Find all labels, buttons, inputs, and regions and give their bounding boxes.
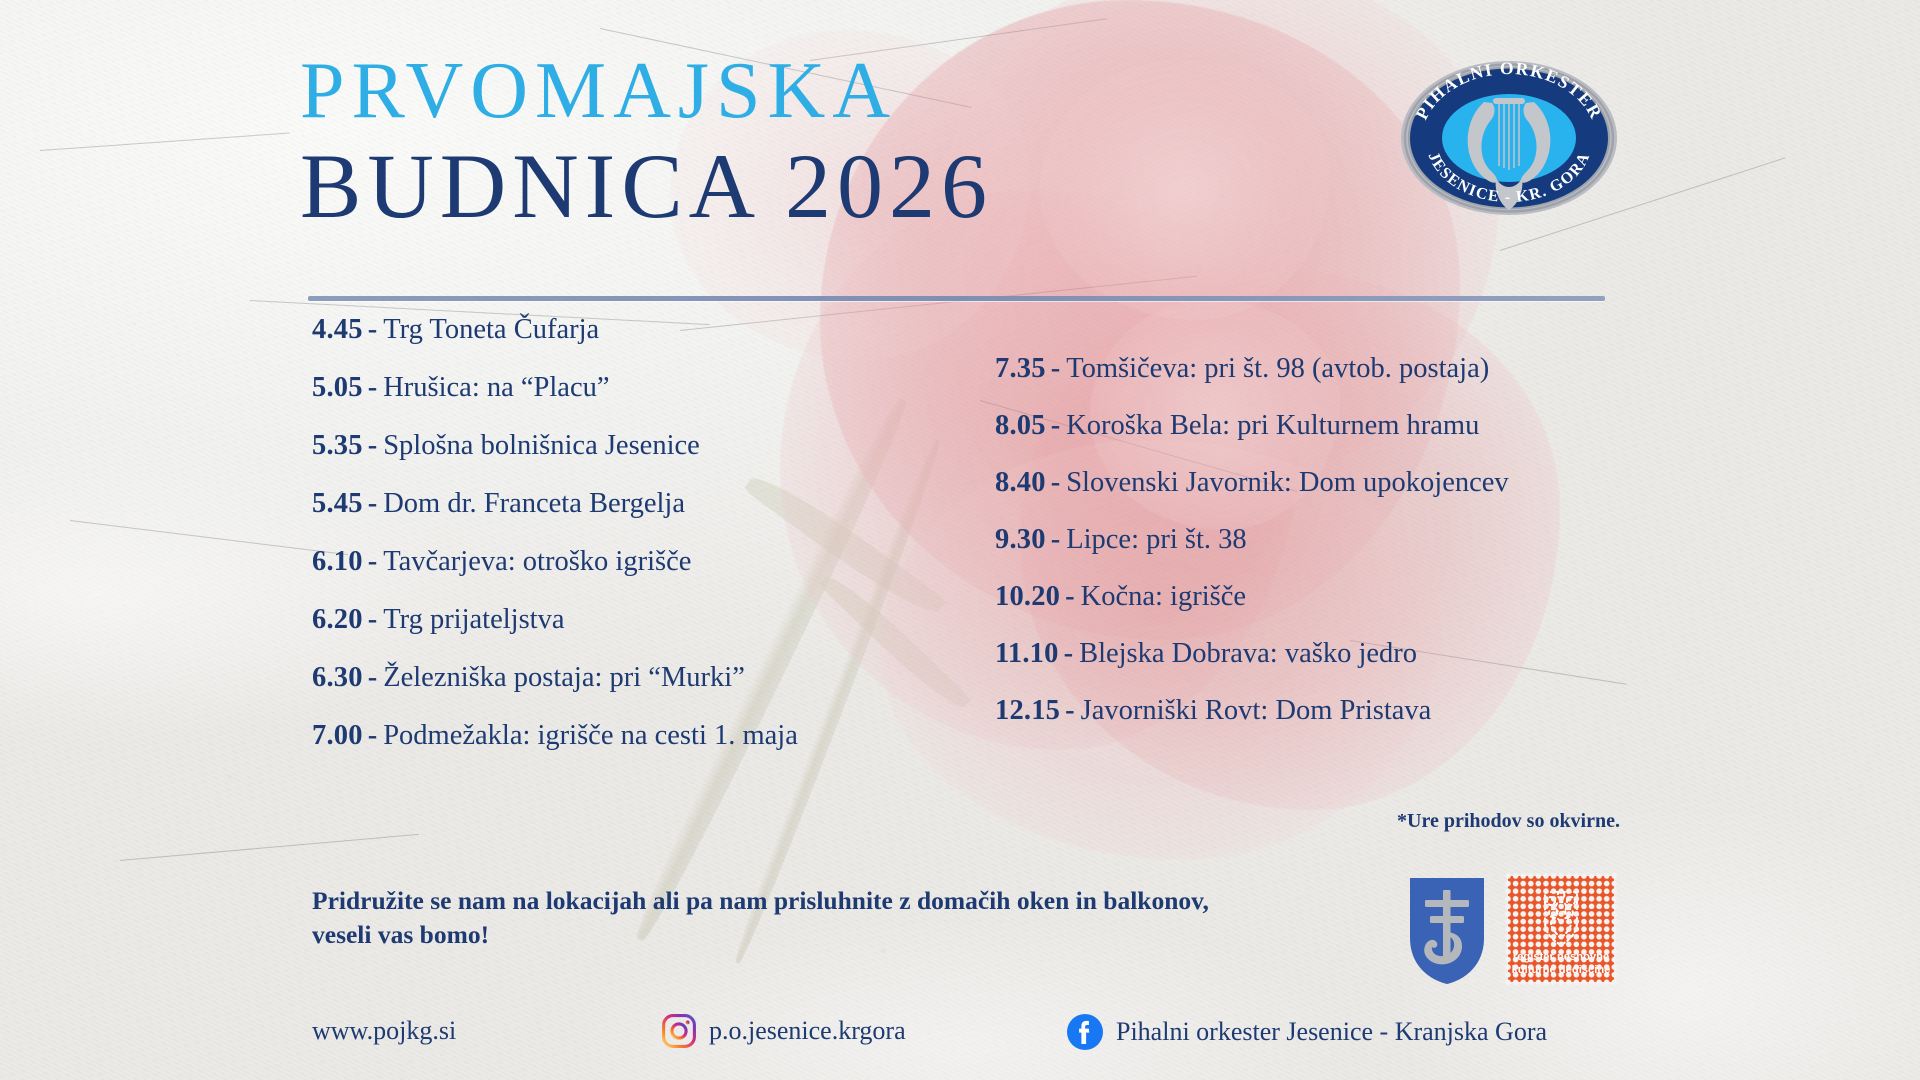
schedule-column-left: 4.45 - Trg Toneta Čufarja 5.05 - Hrušica… — [312, 316, 972, 780]
schedule-place: Trg prijateljstva — [383, 606, 564, 635]
schedule-dash: - — [1060, 697, 1081, 726]
schedule-dash: - — [1060, 583, 1081, 612]
jesenice-coat-of-arms-icon — [1408, 876, 1486, 986]
poster-headline: PRVOMAJSKA BUDNICA 2026 — [300, 52, 993, 235]
facebook-link[interactable]: Pihalni orkester Jesenice - Kranjska Gor… — [1067, 1014, 1547, 1050]
title-line-budnica-2026: BUDNICA 2026 — [300, 138, 993, 235]
schedule-time: 6.30 — [312, 664, 363, 693]
header-divider — [308, 296, 1605, 301]
heritage-stamp-line-1: register nesnovne — [1513, 951, 1609, 963]
schedule-row: 7.00 - Podmežakla: igrišče na cesti 1. m… — [312, 722, 972, 780]
schedule-time: 12.15 — [995, 697, 1060, 726]
facebook-page-name: Pihalni orkester Jesenice - Kranjska Gor… — [1116, 1017, 1547, 1047]
instagram-link[interactable]: p.o.jesenice.krgora — [662, 1014, 906, 1048]
cta-line-2: veseli vas bomo! — [312, 918, 1342, 952]
orchestra-badge-logo: PIHALNI ORKESTER JESENICE - KR. GORA — [1398, 58, 1620, 218]
call-to-action-text: Pridružite se nam na lokacijah ali pa na… — [312, 884, 1342, 952]
schedule-time: 6.20 — [312, 606, 363, 635]
poster-footer: www.pojkg.si — [312, 1014, 1612, 1060]
schedule-row: 12.15 - Javorniški Rovt: Dom Pristava — [995, 697, 1635, 754]
schedule-dash: - — [1046, 355, 1067, 384]
schedule-row: 5.45 - Dom dr. Franceta Bergelja — [312, 490, 972, 548]
schedule-dash: - — [1046, 526, 1067, 555]
schedule-row: 6.20 - Trg prijateljstva — [312, 606, 972, 664]
schedule-dash: - — [1059, 640, 1080, 669]
title-line-prvomajska: PRVOMAJSKA — [300, 52, 993, 130]
schedule-time: 11.10 — [995, 640, 1059, 669]
schedule-time: 7.00 — [312, 722, 363, 751]
schedule-row: 4.45 - Trg Toneta Čufarja — [312, 316, 972, 374]
schedule-row: 8.40 - Slovenski Javornik: Dom upokojenc… — [995, 469, 1635, 526]
schedule-dash: - — [363, 316, 384, 345]
schedule-row: 11.10 - Blejska Dobrava: vaško jedro — [995, 640, 1635, 697]
schedule-place: Podmežakla: igrišče na cesti 1. maja — [383, 722, 798, 751]
schedule-row: 7.35 - Tomšičeva: pri št. 98 (avtob. pos… — [995, 355, 1635, 412]
schedule-dash: - — [363, 432, 384, 461]
schedule-row: 10.20 - Kočna: igrišče — [995, 583, 1635, 640]
schedule-place: Splošna bolnišnica Jesenice — [383, 432, 700, 461]
schedule-time: 9.30 — [995, 526, 1046, 555]
facebook-icon — [1067, 1014, 1103, 1050]
schedule-dash: - — [363, 664, 384, 693]
schedule-row: 5.35 - Splošna bolnišnica Jesenice — [312, 432, 972, 490]
schedule-time: 10.20 — [995, 583, 1060, 612]
schedule-place: Koroška Bela: pri Kulturnem hramu — [1066, 412, 1479, 441]
schedule-dash: - — [1046, 469, 1067, 498]
schedule-place: Železniška postaja: pri “Murki” — [383, 664, 745, 693]
instagram-handle: p.o.jesenice.krgora — [709, 1016, 906, 1046]
schedule-column-right: 7.35 - Tomšičeva: pri št. 98 (avtob. pos… — [995, 355, 1635, 754]
heritage-stamp-line-2: kulturne dediščine — [1512, 964, 1611, 976]
approximate-times-note: *Ure prihodov so okvirne. — [1050, 810, 1620, 833]
schedule-place: Tavčarjeva: otroško igrišče — [383, 548, 691, 577]
schedule-dash: - — [363, 722, 384, 751]
schedule-place: Javorniški Rovt: Dom Pristava — [1081, 697, 1432, 726]
website-label: www.pojkg.si — [312, 1016, 456, 1046]
schedule-place: Tomšičeva: pri št. 98 (avtob. postaja) — [1066, 355, 1489, 384]
schedule-place: Kočna: igrišče — [1081, 583, 1246, 612]
schedule-time: 8.05 — [995, 412, 1046, 441]
schedule-row: 5.05 - Hrušica: na “Placu” — [312, 374, 972, 432]
schedule-time: 8.40 — [995, 469, 1046, 498]
schedule-row: 8.05 - Koroška Bela: pri Kulturnem hramu — [995, 412, 1635, 469]
schedule-time: 4.45 — [312, 316, 363, 345]
poster: PRVOMAJSKA BUDNICA 2026 — [0, 0, 1920, 1080]
cta-line-1: Pridružite se nam na lokacijah ali pa na… — [312, 884, 1342, 918]
website-link[interactable]: www.pojkg.si — [312, 1016, 456, 1046]
schedule-time: 6.10 — [312, 548, 363, 577]
schedule-dash: - — [363, 548, 384, 577]
schedule-place: Lipce: pri št. 38 — [1066, 526, 1246, 555]
schedule-place: Trg Toneta Čufarja — [383, 316, 599, 345]
schedule-row: 6.10 - Tavčarjeva: otroško igrišče — [312, 548, 972, 606]
schedule-dash: - — [363, 606, 384, 635]
schedule-place: Slovenski Javornik: Dom upokojencev — [1066, 469, 1509, 498]
schedule-row: 9.30 - Lipce: pri št. 38 — [995, 526, 1635, 583]
schedule-place: Blejska Dobrava: vaško jedro — [1079, 640, 1417, 669]
schedule-time: 7.35 — [995, 355, 1046, 384]
schedule-dash: - — [363, 374, 384, 403]
schedule-place: Dom dr. Franceta Bergelja — [383, 490, 685, 519]
schedule-row: 6.30 - Železniška postaja: pri “Murki” — [312, 664, 972, 722]
partner-logos: register nesnovne kulturne dediščine — [1408, 876, 1614, 986]
schedule-time: 5.45 — [312, 490, 363, 519]
instagram-icon — [662, 1014, 696, 1048]
schedule-place: Hrušica: na “Placu” — [383, 374, 609, 403]
schedule-time: 5.05 — [312, 374, 363, 403]
heritage-register-stamp-logo: register nesnovne kulturne dediščine — [1508, 876, 1614, 982]
schedule-time: 5.35 — [312, 432, 363, 461]
schedule-dash: - — [363, 490, 384, 519]
schedule-dash: - — [1046, 412, 1067, 441]
